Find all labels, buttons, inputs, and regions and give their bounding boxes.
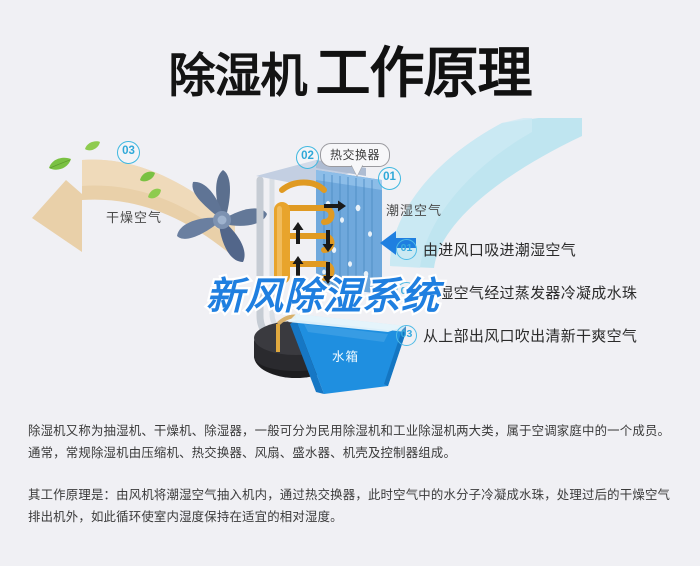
label-dry-air: 干燥空气 xyxy=(106,207,162,226)
step-badge: 01 xyxy=(396,239,417,260)
description-paragraph-1: 除湿机又称为抽湿机、干燥机、除湿器，一般可分为民用除湿机和工业除湿机两大类，属于… xyxy=(28,420,678,464)
label-humid-air: 潮湿空气 xyxy=(386,200,442,219)
step-text: 由进风口吸进潮湿空气 xyxy=(423,239,576,260)
badge-dry-air: 03 xyxy=(117,141,140,164)
infographic-page: 除湿机工作原理 xyxy=(0,0,700,566)
step-badge: 03 xyxy=(396,325,417,346)
description-paragraph-2-wrap: 其工作原理是：由风机将潮湿空气抽入机内，通过热交换器，此时空气中的水分子冷凝成水… xyxy=(28,484,678,528)
list-item: 02 潮湿空气经过蒸发器冷凝成水珠 xyxy=(396,281,696,303)
list-item: 01 由进风口吸进潮湿空气 xyxy=(396,238,696,260)
badge-humid-air: 01 xyxy=(378,167,401,190)
callout-tail-icon xyxy=(351,164,363,176)
page-title-part2: 工作原理 xyxy=(315,42,531,104)
description-paragraph-1-wrap: 除湿机又称为抽湿机、干燥机、除湿器，一般可分为民用除湿机和工业除湿机两大类，属于… xyxy=(28,420,678,464)
step-text: 从上部出风口吹出清新干爽空气 xyxy=(423,325,637,346)
leaf-icon xyxy=(139,170,156,183)
list-item: 03 从上部出风口吹出清新干爽空气 xyxy=(396,324,696,346)
leaf-icon xyxy=(48,156,72,172)
page-title: 除湿机工作原理 xyxy=(0,28,700,108)
page-title-part1: 除湿机 xyxy=(168,49,306,102)
overlay-headline: 新风除湿系统 xyxy=(206,265,440,320)
leaf-icon xyxy=(147,188,162,200)
leaf-icon xyxy=(84,140,101,152)
description-paragraph-2: 其工作原理是：由风机将潮湿空气抽入机内，通过热交换器，此时空气中的水分子冷凝成水… xyxy=(28,484,678,528)
step-list: 01 由进风口吸进潮湿空气 02 潮湿空气经过蒸发器冷凝成水珠 03 从上部出风… xyxy=(396,238,696,367)
badge-heat-exchanger: 02 xyxy=(296,146,319,169)
step-text: 潮湿空气经过蒸发器冷凝成水珠 xyxy=(423,282,637,303)
label-water-tank: 水箱 xyxy=(332,346,359,365)
